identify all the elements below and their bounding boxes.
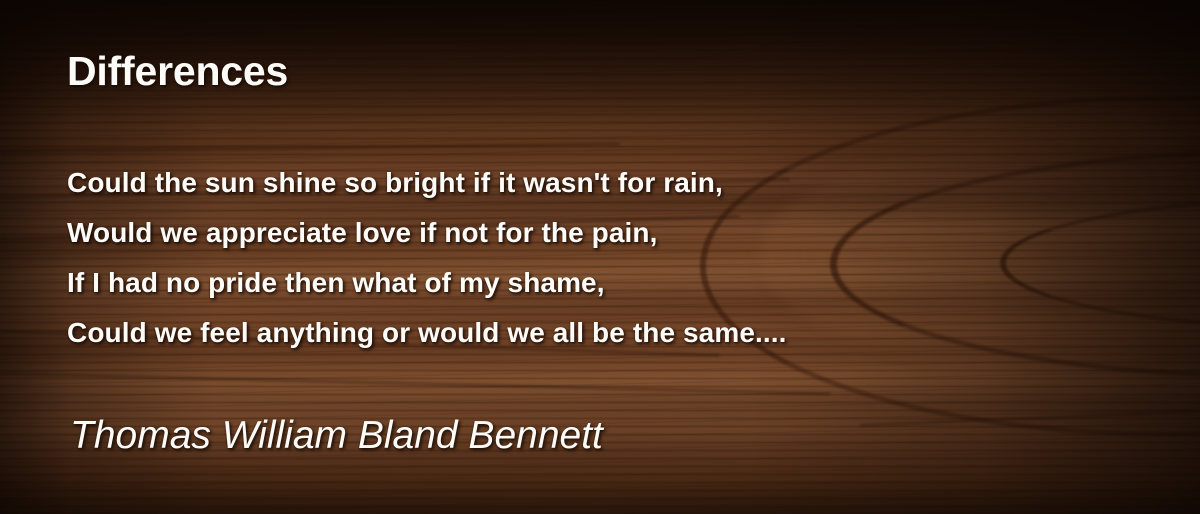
poem-author-name: Thomas William Bland Bennett <box>70 414 603 458</box>
poem-body: Could the sun shine so bright if it wasn… <box>67 158 787 358</box>
poem-line: Could we feel anything or would we all b… <box>67 308 787 358</box>
poem-line: Would we appreciate love if not for the … <box>67 208 787 258</box>
poem-image-card: Differences Could the sun shine so brigh… <box>0 0 1200 514</box>
poem-content: Differences Could the sun shine so brigh… <box>0 0 1200 514</box>
poem-line: Could the sun shine so bright if it wasn… <box>67 158 787 208</box>
poem-line: If I had no pride then what of my shame, <box>67 258 787 308</box>
poem-title: Differences <box>67 48 288 95</box>
